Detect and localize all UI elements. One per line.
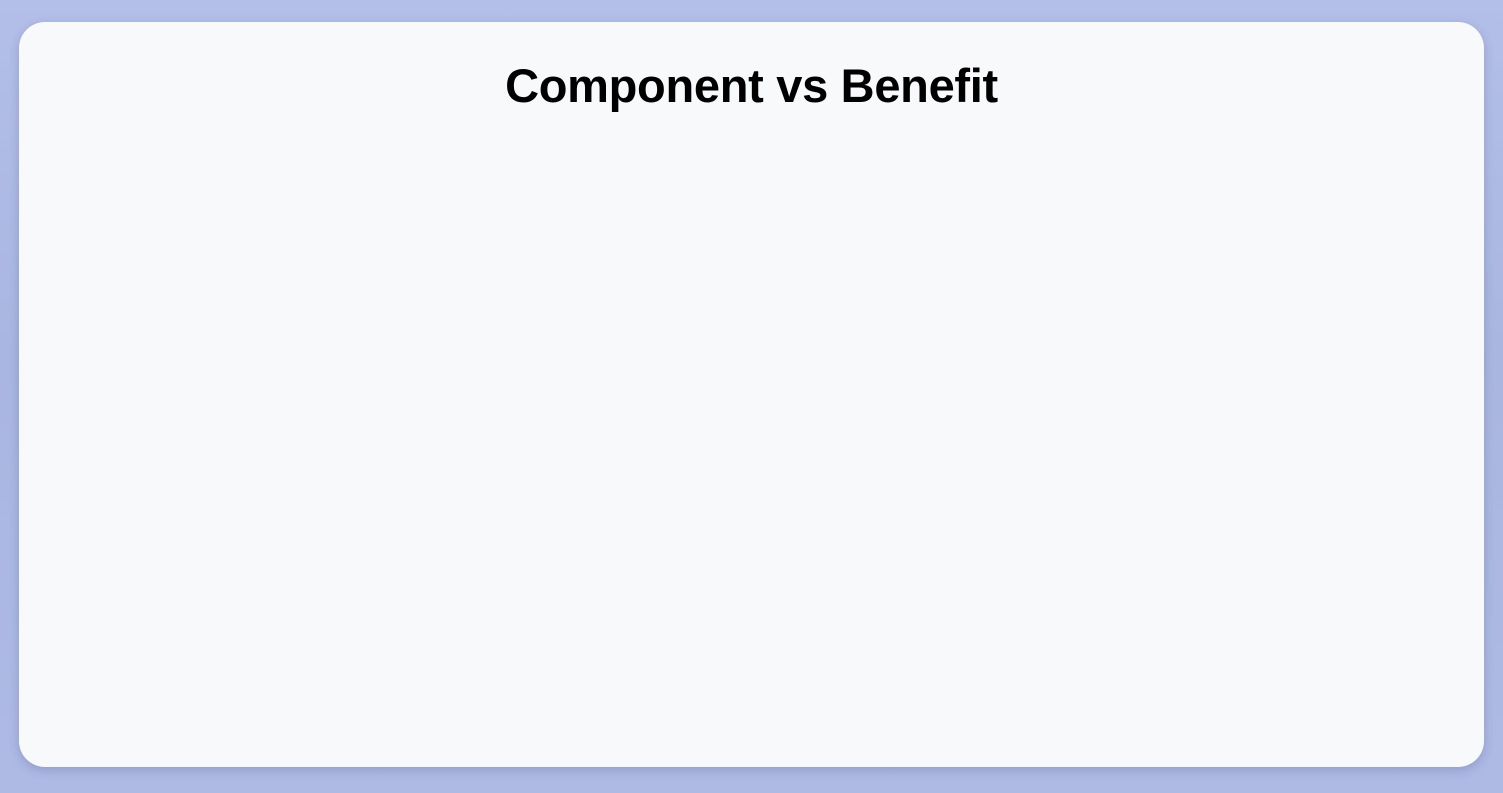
screenshot-stage: Component vs Benefit Metadata Show Metad… bbox=[0, 0, 1503, 793]
chart-card: Component vs Benefit Metadata Show Metad… bbox=[19, 22, 1484, 767]
bar-chart-plot-area: Metadata Show Metadata Personalization V… bbox=[19, 22, 1484, 767]
